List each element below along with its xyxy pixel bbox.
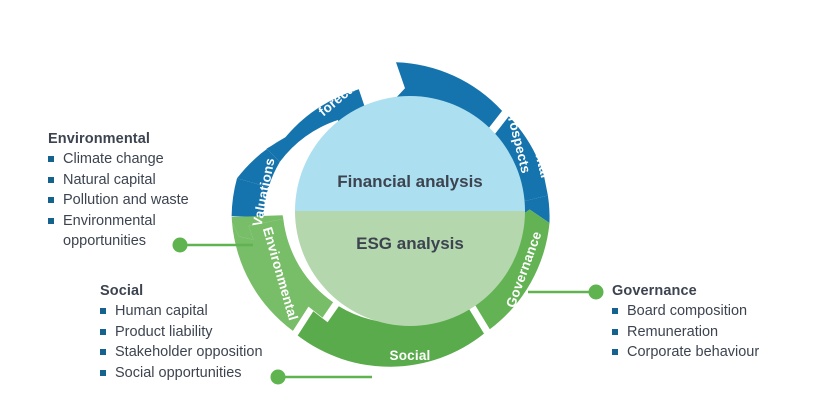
list-item-label: Stakeholder opposition xyxy=(115,344,263,360)
diagram-canvas: Financial analysis ESG analysis Valuatio… xyxy=(0,0,826,416)
callout-social-heading: Social xyxy=(100,283,263,299)
list-item-label: Human capital xyxy=(115,303,208,319)
bullet-square-icon xyxy=(100,329,106,335)
list-item-label: Pollution and waste xyxy=(63,192,189,208)
connector-dot-governance xyxy=(589,285,604,300)
bullet-square-icon xyxy=(100,349,106,355)
label-social: Social xyxy=(390,348,431,363)
list-item: Human capital xyxy=(100,301,263,322)
list-item: Corporate behaviour xyxy=(612,342,759,363)
list-item-label: Climate change xyxy=(63,151,164,167)
list-item: Pollution and waste xyxy=(48,190,189,211)
list-item: Stakeholder opposition xyxy=(100,342,263,363)
list-item-label: Product liability xyxy=(115,324,213,340)
bullet-square-icon xyxy=(100,308,106,314)
list-item-label: Remuneration xyxy=(627,324,718,340)
list-item: Natural capital xyxy=(48,170,189,191)
bullet-square-icon xyxy=(48,218,54,224)
callout-environmental: Environmental Climate change Natural cap… xyxy=(48,131,189,252)
bullet-square-icon xyxy=(612,349,618,355)
list-item-label: Environmental opportunities xyxy=(63,213,156,250)
callout-social: Social Human capital Product liability S… xyxy=(100,283,263,383)
callout-environmental-list: Climate change Natural capital Pollution… xyxy=(48,149,189,252)
bullet-square-icon xyxy=(48,197,54,203)
list-item: Remuneration xyxy=(612,322,759,343)
center-esg-label: ESG analysis xyxy=(356,234,464,253)
list-item-label: Corporate behaviour xyxy=(627,344,759,360)
center-financial-label: Financial analysis xyxy=(337,172,483,191)
bullet-square-icon xyxy=(48,156,54,162)
list-item-label: Natural capital xyxy=(63,172,156,188)
bullet-square-icon xyxy=(612,329,618,335)
list-item: Board composition xyxy=(612,301,759,322)
bullet-square-icon xyxy=(48,177,54,183)
list-item: Environmental opportunities xyxy=(48,211,181,252)
list-item-label: Board composition xyxy=(627,303,747,319)
list-item: Climate change xyxy=(48,149,189,170)
connector-dot-social xyxy=(271,370,286,385)
list-item: Social opportunities xyxy=(100,363,263,384)
inner-disc xyxy=(295,96,525,326)
callout-governance-heading: Governance xyxy=(612,283,759,299)
list-item-label: Social opportunities xyxy=(115,365,242,381)
callout-environmental-heading: Environmental xyxy=(48,131,189,147)
bullet-square-icon xyxy=(612,308,618,314)
callout-social-list: Human capital Product liability Stakehol… xyxy=(100,301,263,383)
callout-governance-list: Board composition Remuneration Corporate… xyxy=(612,301,759,363)
list-item: Product liability xyxy=(100,322,263,343)
callout-governance: Governance Board composition Remuneratio… xyxy=(612,283,759,363)
bullet-square-icon xyxy=(100,370,106,376)
